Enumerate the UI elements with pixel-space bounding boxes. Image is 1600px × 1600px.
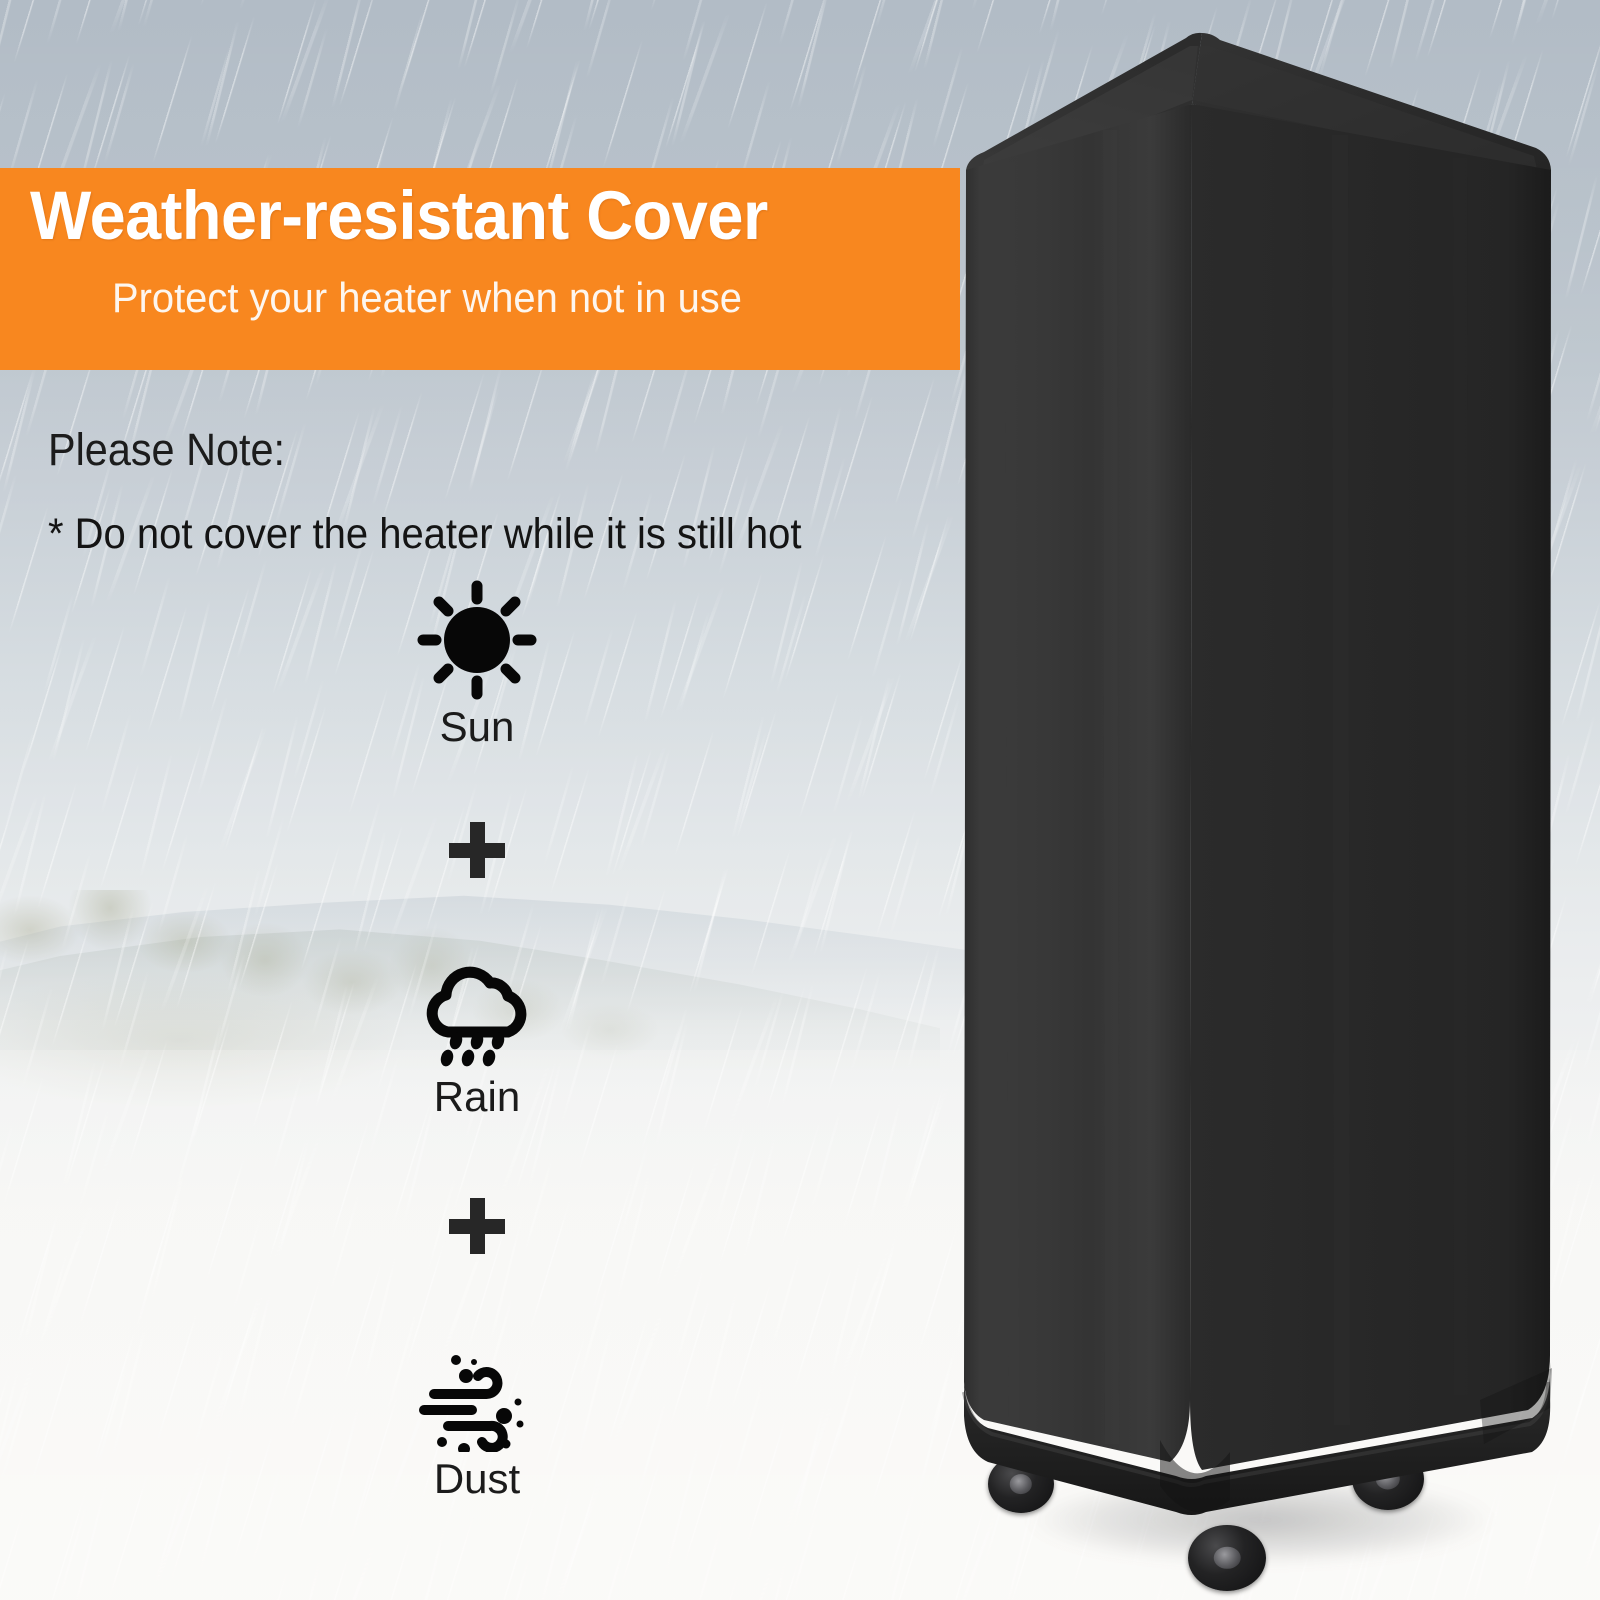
wheel-hub [1214, 1547, 1241, 1569]
sun-icon [412, 580, 542, 700]
banner-subtitle: Protect your heater when not in use [112, 274, 742, 322]
cover-body-illustration [940, 0, 1600, 1600]
plus-separator-2 [449, 1198, 505, 1254]
product-image-patio-heater-cover [940, 0, 1600, 1600]
note-line-1: * Do not cover the heater while it is st… [48, 510, 802, 559]
feature-item-sun: Sun [412, 580, 542, 748]
product-feature-image: Weather-resistant Cover Protect your hea… [0, 0, 1600, 1600]
headline-banner: Weather-resistant Cover Protect your hea… [0, 168, 960, 370]
weather-feature-list: Sun Rain [346, 580, 608, 1500]
feature-label-dust: Dust [434, 1458, 520, 1500]
note-heading: Please Note: [48, 424, 793, 476]
feature-label-sun: Sun [440, 706, 515, 748]
dust-wind-icon [412, 1332, 542, 1452]
plus-separator-1 [449, 822, 505, 878]
feature-label-rain: Rain [434, 1076, 520, 1118]
feature-item-rain: Rain [412, 950, 542, 1118]
caster-wheel-front [1188, 1525, 1266, 1591]
please-note-block: Please Note: * Do not cover the heater w… [48, 424, 858, 559]
feature-item-dust: Dust [412, 1332, 542, 1500]
banner-title: Weather-resistant Cover [30, 176, 768, 255]
rain-icon [412, 950, 542, 1070]
